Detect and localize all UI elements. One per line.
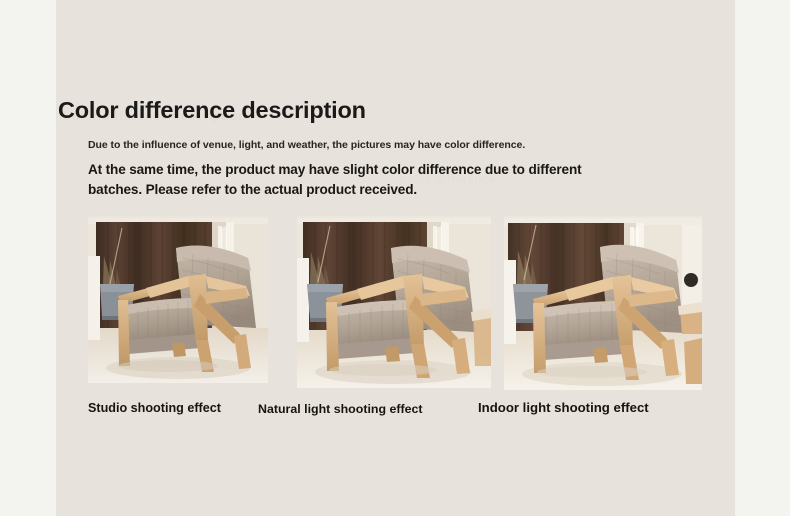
product-description-page: Color difference description color diffe… [0, 0, 790, 516]
armchair-photo-illustration [88, 216, 268, 383]
page-title: Color difference description [58, 97, 366, 124]
caption-indoor-light-shot: Indoor light shooting effect [478, 400, 649, 415]
right-margin [735, 0, 790, 516]
armchair-photo-illustration [297, 216, 491, 388]
caption-natural-light-shot: Natural light shooting effect [258, 402, 423, 416]
caption-studio-shot: Studio shooting effect [88, 401, 221, 415]
gallery-photo-natural-light[interactable] [297, 216, 491, 388]
armchair-photo-illustration [504, 216, 702, 390]
color-difference-note-primary: Due to the influence of venue, light, an… [88, 139, 525, 151]
gallery-photo-studio[interactable] [88, 216, 268, 383]
color-difference-note-secondary: At the same time, the product may have s… [88, 160, 618, 199]
gallery-photo-indoor-light[interactable] [504, 216, 702, 390]
